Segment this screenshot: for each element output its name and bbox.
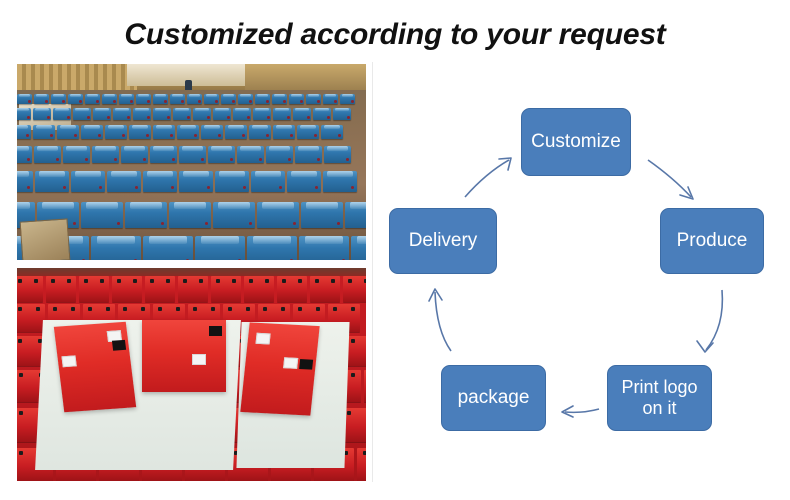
flow-node-package[interactable]: package [441, 365, 546, 431]
flow-node-print-logo[interactable]: Print logo on it [607, 365, 712, 431]
flow-node-produce[interactable]: Produce [660, 208, 764, 274]
arrow-print-to-package [562, 406, 599, 417]
photo-warehouse-blue-cases [17, 64, 366, 260]
arrow-delivery-to-customize [465, 158, 511, 197]
flow-node-print-logo-line2: on it [642, 398, 676, 418]
photo-red-battery-cases [17, 268, 366, 481]
flow-node-delivery[interactable]: Delivery [389, 208, 497, 274]
arrow-package-to-delivery [429, 289, 451, 351]
page-title: Customized according to your request [0, 18, 790, 52]
process-cycle-diagram: Customize Produce Print logo on it packa… [375, 60, 790, 500]
arrow-customize-to-produce [648, 160, 693, 199]
flow-node-print-logo-text: Print logo on it [621, 377, 697, 419]
page-root: Customized according to your request [0, 0, 790, 500]
arrow-produce-to-print [697, 290, 722, 352]
flow-node-print-logo-line1: Print logo [621, 377, 697, 397]
flow-node-customize[interactable]: Customize [521, 108, 631, 176]
column-divider [372, 62, 373, 482]
